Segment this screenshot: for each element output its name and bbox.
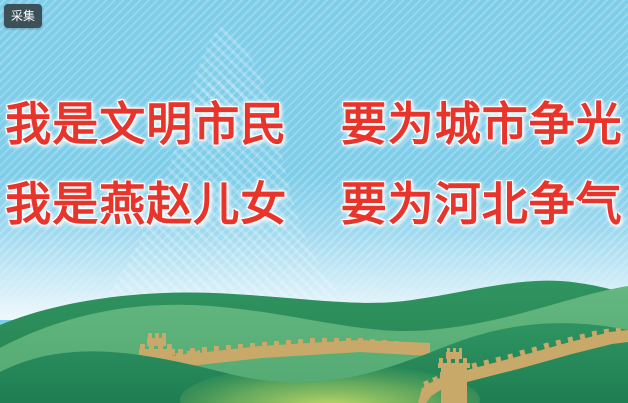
slogan-line-2-left: 我是燕赵儿女 [5,181,287,227]
slogan-line-1: 我是文明市民 要为城市争光 [0,101,628,147]
slogan-line-2-right: 要为河北争气 [341,181,623,227]
slogan-line-2: 我是燕赵儿女 要为河北争气 [0,181,628,227]
slogan-line-1-left: 我是文明市民 [5,101,287,147]
banner-screenshot: 我是文明市民 要为城市争光 我是燕赵儿女 要为河北争气 采集 [0,0,628,403]
slogan-line-1-right: 要为城市争光 [341,101,623,147]
capture-button[interactable]: 采集 [4,4,42,28]
